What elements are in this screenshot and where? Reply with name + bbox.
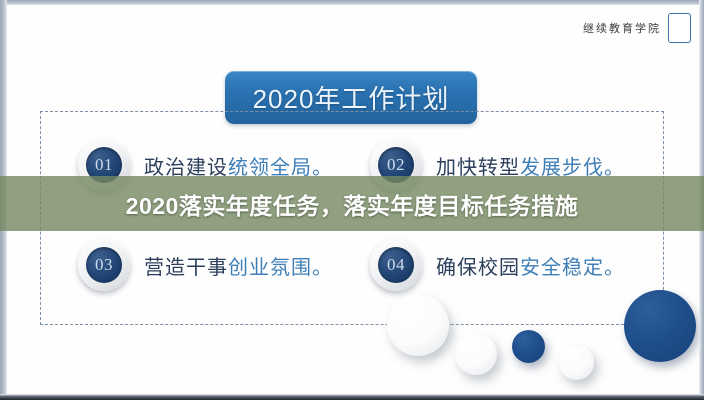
plan-item-text-lead: 营造干事 xyxy=(144,257,228,279)
caption-text: 2020落实年度任务，落实年度目标任务措施 xyxy=(126,187,579,221)
caption-overlay-band: 2020落实年度任务，落实年度目标任务措施 xyxy=(0,176,704,231)
plan-item-text-accent: 创业氛围。 xyxy=(228,257,333,279)
bubble-white-large xyxy=(387,294,449,356)
plan-number-badge: 03 xyxy=(78,239,130,291)
plan-item-text: 确保校园安全稳定。 xyxy=(436,251,625,280)
plan-number-label: 02 xyxy=(387,155,405,175)
slide-screenshot: 继续教育学院 2020年工作计划 01 政治建设统领全局。 xyxy=(0,0,704,400)
bubble-white-small xyxy=(559,345,594,380)
plan-item-text-accent: 安全稳定。 xyxy=(520,257,625,279)
plan-number-badge: 04 xyxy=(370,239,422,291)
bubble-blue-small xyxy=(512,330,545,363)
institute-name-label: 继续教育学院 xyxy=(583,20,661,36)
slide-frame-bottom xyxy=(0,394,704,400)
plan-number-label: 01 xyxy=(95,155,113,175)
plan-number-badge-core: 04 xyxy=(378,247,414,283)
plan-item-text-lead: 确保校园 xyxy=(436,257,520,279)
plan-number-badge-core: 03 xyxy=(86,247,122,283)
bubble-blue-large xyxy=(624,290,696,362)
plan-item-text: 营造干事创业氛围。 xyxy=(144,251,333,280)
plan-number-label: 03 xyxy=(95,255,113,275)
institute-logo-row: 继续教育学院 xyxy=(583,13,691,43)
book-logo-icon xyxy=(668,13,691,43)
bubble-white-medium xyxy=(455,333,497,375)
plan-number-label: 04 xyxy=(387,255,405,275)
plan-item: 04 确保校园安全稳定。 xyxy=(370,239,670,291)
plan-item: 03 营造干事创业氛围。 xyxy=(78,239,378,291)
